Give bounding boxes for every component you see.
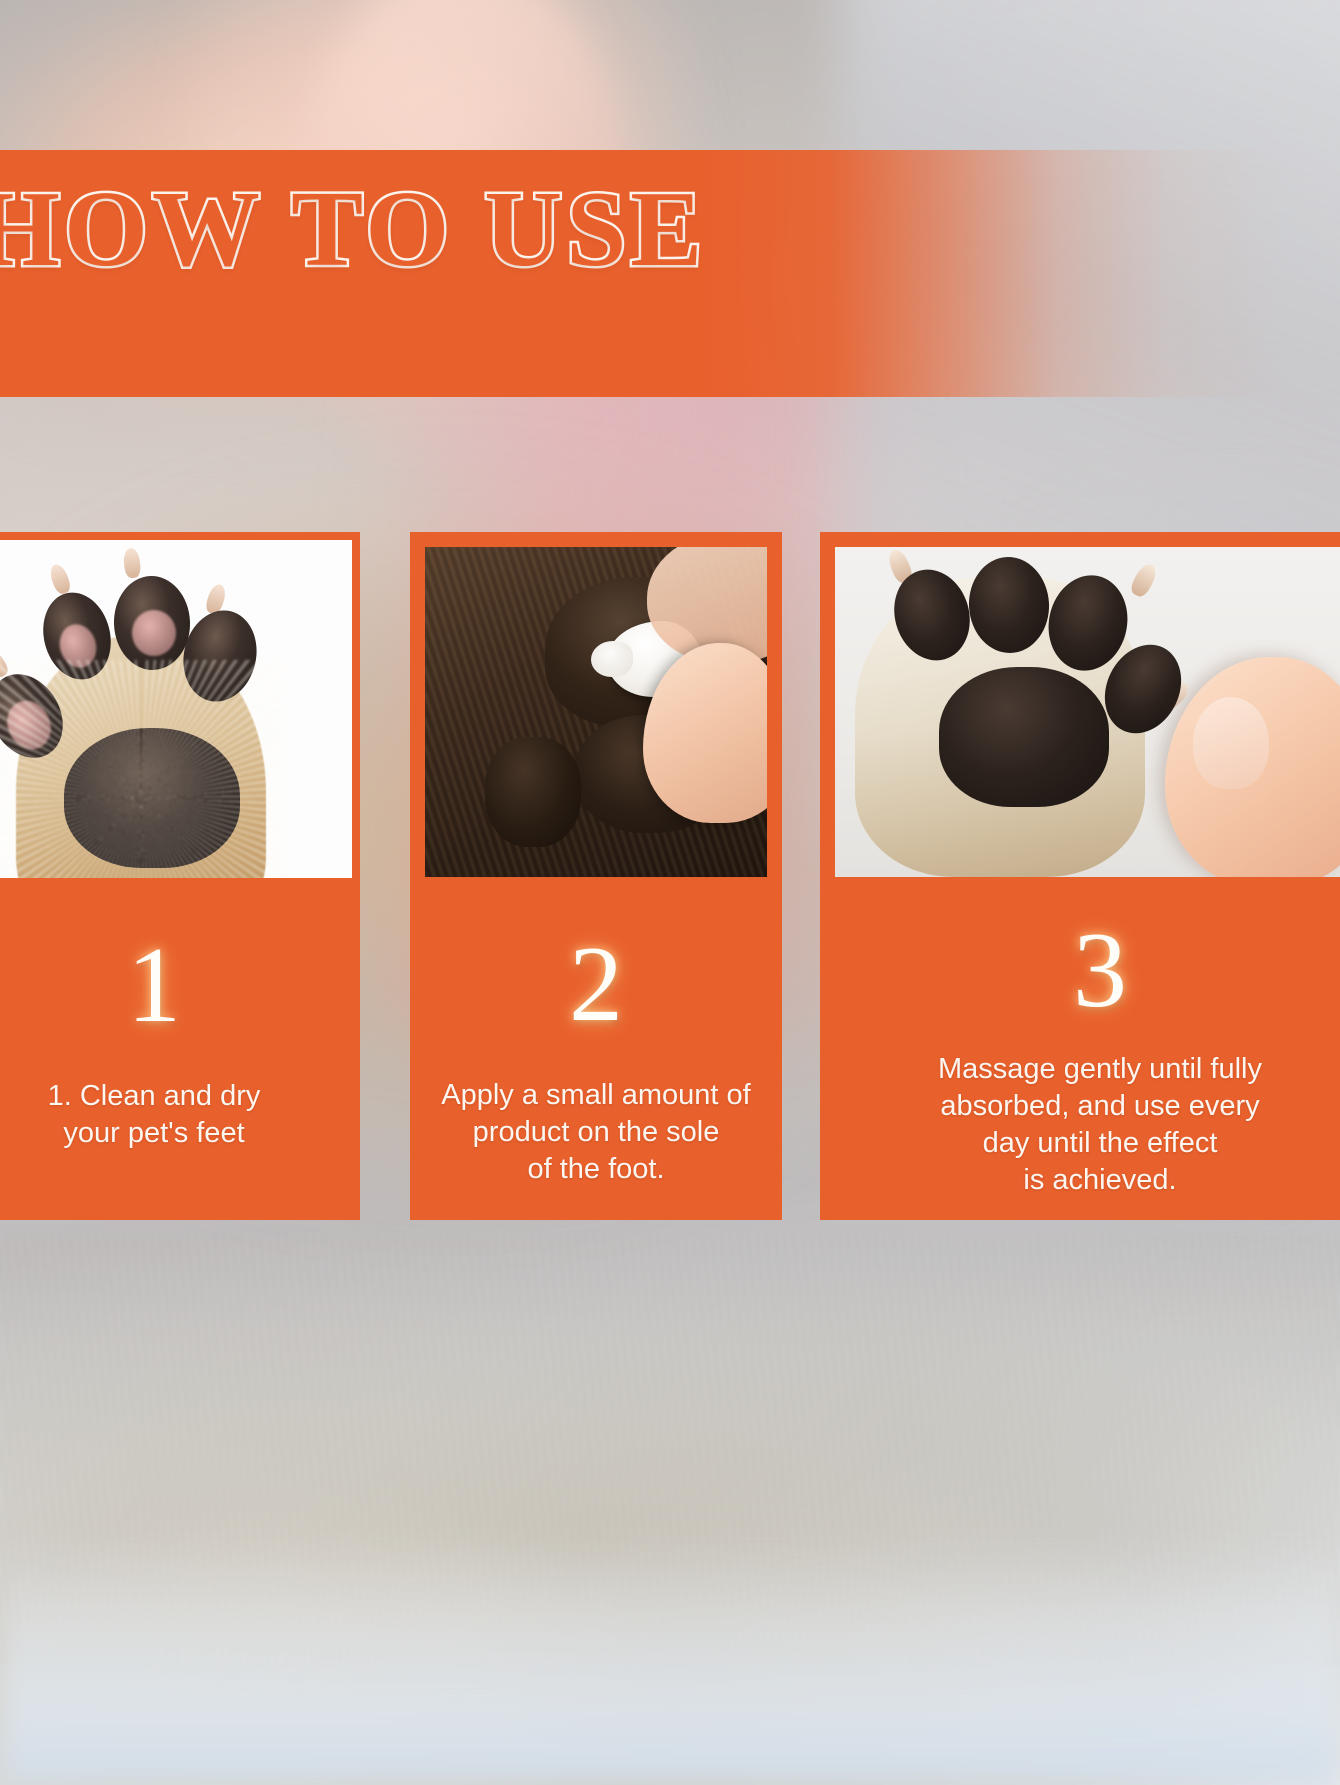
step-2-photo — [425, 547, 767, 877]
paw-claw — [122, 547, 141, 579]
paw-claw — [1128, 561, 1160, 599]
step-1-caption: 1. Clean and dry your pet's feet — [0, 1078, 352, 1152]
step-1-photo — [0, 540, 352, 878]
paw-pad — [485, 737, 581, 847]
step-card-2: 2 Apply a small amount of product on the… — [410, 532, 782, 1220]
step-3-number: 3 — [1073, 917, 1127, 1025]
background-bottom-haze — [0, 1535, 1340, 1785]
step-card-3: 3 Massage gently until fully absorbed, a… — [820, 532, 1340, 1220]
massage-photo — [835, 547, 1340, 877]
step-3-photo — [835, 547, 1340, 877]
step-2-number: 2 — [569, 931, 623, 1039]
paw-pad-main — [939, 667, 1109, 807]
step-3-caption: Massage gently until fully absorbed, and… — [835, 1051, 1340, 1199]
paw-fur-texture — [0, 660, 286, 878]
paw-pad-pink — [132, 610, 176, 656]
finger-nail — [1193, 697, 1269, 789]
page-title: HOW TO USE — [0, 176, 706, 284]
dog-paw-photo — [0, 540, 352, 878]
step-2-caption: Apply a small amount of product on the s… — [425, 1077, 767, 1188]
paw-claw — [47, 562, 72, 596]
cream-application-photo — [425, 547, 767, 877]
step-1-number: 1 — [127, 932, 181, 1040]
step-card-1: 1 1. Clean and dry your pet's feet — [0, 532, 360, 1220]
